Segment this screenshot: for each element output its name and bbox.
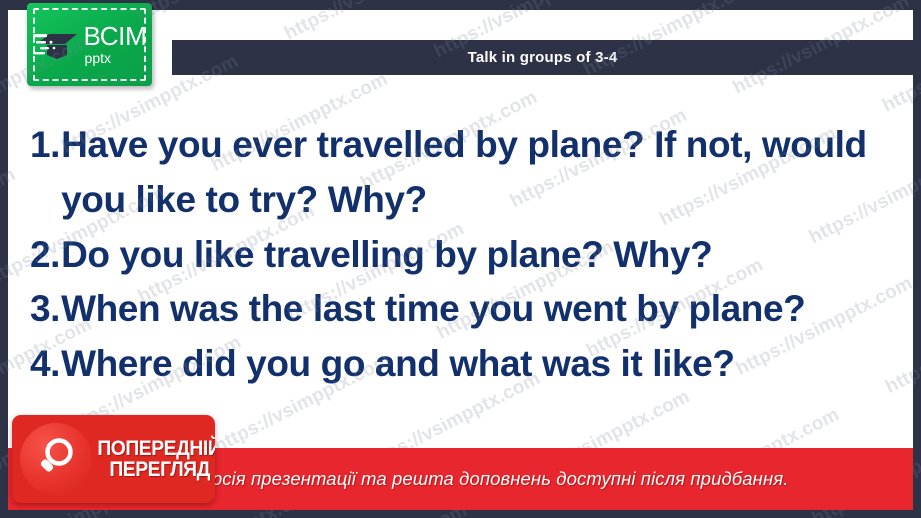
slide-header-bar: Talk in groups of 3-4 [172,40,913,75]
list-item: 2. Do you like travelling by plane? Why? [30,228,880,283]
logo-sub-text: pptx [85,51,111,65]
question-number: 2. [30,228,61,283]
page-title: Talk in groups of 3-4 [468,49,618,66]
question-text: Do you like travelling by plane? Why? [61,228,880,283]
question-text: Have you ever travelled by plane? If not… [61,118,880,228]
question-number: 4. [30,337,61,392]
list-item: 1. Have you ever travelled by plane? If … [30,118,880,228]
list-item: 3. When was the last time you went by pl… [30,282,880,337]
question-text: When was the last time you went by plane… [61,282,880,337]
question-number: 3. [30,282,61,337]
list-item: 4. Where did you go and what was it like… [30,337,880,392]
preview-badge[interactable]: ПОПЕРЕДНІЙ ПЕРЕГЛЯД [12,415,215,503]
magnifier-icon [20,423,92,495]
preview-badge-line2: ПЕРЕГЛЯД [109,459,210,480]
purchase-notice-text: Повна версія презентації та решта доповн… [113,467,809,492]
graduation-cap-icon [33,24,81,66]
vsimpptx-logo[interactable]: ВСІМ pptx [27,3,152,86]
question-list: 1. Have you ever travelled by plane? If … [30,118,880,392]
preview-badge-line1: ПОПЕРЕДНІЙ [97,438,215,459]
question-text: Where did you go and what was it like? [61,337,880,392]
logo-main-text: ВСІМ [84,23,147,49]
question-number: 1. [30,118,61,173]
slide-canvas: 1. Have you ever travelled by plane? If … [0,0,921,518]
